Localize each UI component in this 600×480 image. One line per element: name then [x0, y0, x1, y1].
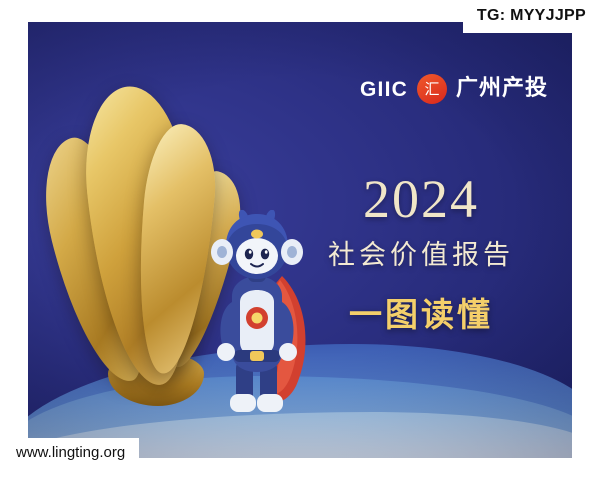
- company-name-cn: 广州产投: [456, 78, 548, 100]
- telegram-watermark-badge: TG: MYYJJPP: [463, 0, 600, 33]
- report-year: 2024: [296, 172, 546, 227]
- red-circle-logo-icon: 汇: [417, 74, 447, 104]
- screenshot-canvas: GIIC 汇 广州产投 2024 社会价值报告 一图读懂 TG: MYYJJPP…: [0, 0, 600, 480]
- brand-logo-row: GIIC 汇 广州产投: [360, 74, 548, 104]
- giic-wordmark: GIIC: [360, 79, 408, 100]
- headline-block: 2024 社会价值报告 一图读懂: [296, 172, 546, 336]
- social-value-report-poster: GIIC 汇 广州产投 2024 社会价值报告 一图读懂: [28, 22, 572, 458]
- report-tagline: 一图读懂: [296, 288, 546, 336]
- report-subtitle: 社会价值报告: [296, 233, 546, 272]
- website-watermark-badge: www.lingting.org: [0, 438, 139, 468]
